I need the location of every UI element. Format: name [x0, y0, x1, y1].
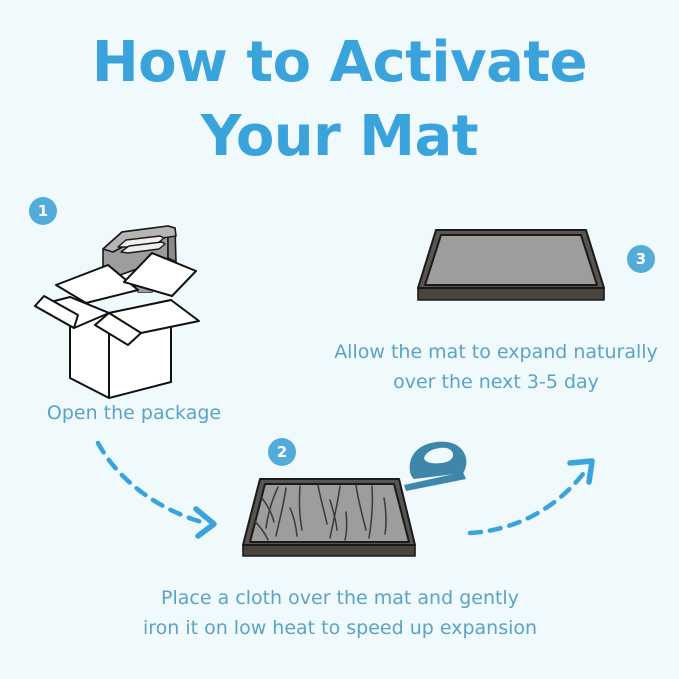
infographic-canvas: How to Activate Your Mat — [0, 0, 679, 679]
step-1-caption: Open the package — [0, 398, 268, 428]
title-line-1: How to Activate — [0, 26, 679, 100]
flat-mat-icon — [418, 230, 604, 300]
dashed-curved-arrow-up-right — [470, 461, 592, 533]
step-2-caption: Place a cloth over the mat and gently ir… — [105, 583, 575, 643]
step-badge-2: 2 — [268, 438, 296, 466]
iron-icon — [404, 442, 466, 491]
dashed-curved-arrow-down-right — [98, 443, 214, 536]
step-2-caption-line-2: iron it on low heat to speed up expansio… — [105, 613, 575, 643]
step-3-caption-line-2: over the next 3-5 day — [318, 367, 674, 397]
step-1-caption-line-1: Open the package — [0, 398, 268, 428]
rolled-mat-shape — [103, 226, 176, 292]
cardboard-box-icon — [35, 226, 199, 398]
wrinkled-mat-icon — [243, 479, 415, 556]
step-badge-3: 3 — [627, 245, 655, 273]
page-title: How to Activate Your Mat — [0, 26, 679, 174]
title-line-2: Your Mat — [0, 100, 679, 174]
step-3-caption-line-1: Allow the mat to expand naturally — [318, 337, 674, 367]
step-3-caption: Allow the mat to expand naturally over t… — [318, 337, 674, 397]
step-badge-1: 1 — [29, 197, 57, 225]
step-2-caption-line-1: Place a cloth over the mat and gently — [105, 583, 575, 613]
